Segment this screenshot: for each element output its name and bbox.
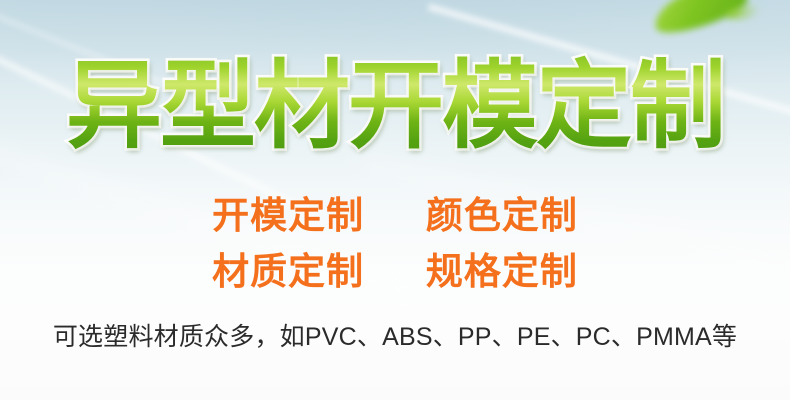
feature-row-2: 材质定制 规格定制 [0,244,790,300]
leaf-icon [649,0,752,39]
page-title: 异型材开模定制 [0,52,790,160]
product-promo-banner: 异型材开模定制 异型材开模定制 开模定制 颜色定制 材质定制 规格定制 可选塑料… [0,0,790,400]
feature-mold-customization: 开模定制 [212,194,364,237]
materials-note: 可选塑料材质众多，如PVC、ABS、PP、PE、PC、PMMA等 [0,320,790,354]
feature-spec-customization: 规格定制 [426,250,578,293]
feature-row-1: 开模定制 颜色定制 [0,188,790,244]
feature-color-customization: 颜色定制 [426,194,578,237]
feature-material-customization: 材质定制 [212,250,364,293]
feature-list: 开模定制 颜色定制 材质定制 规格定制 [0,188,790,300]
leaf-tip-icon [725,3,761,21]
